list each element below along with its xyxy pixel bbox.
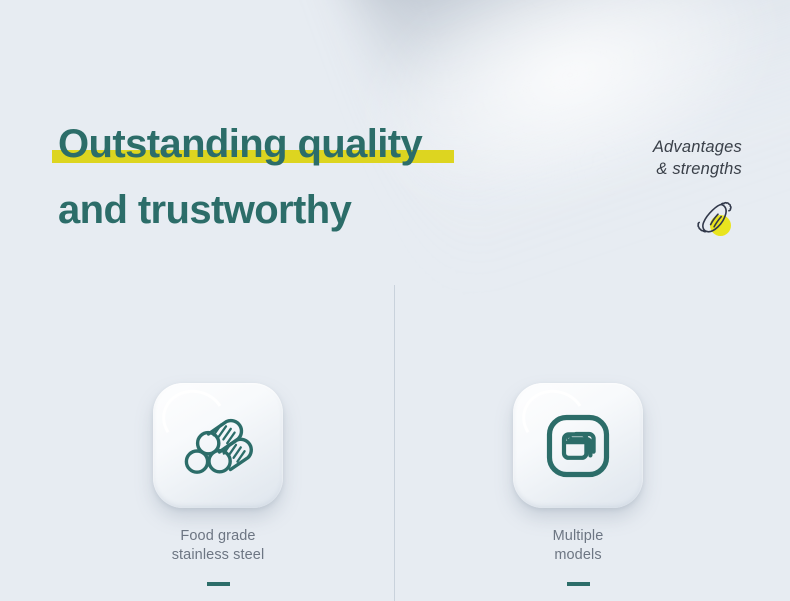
headline-line-2: and trustworthy — [58, 184, 528, 236]
sausage-icon — [690, 194, 742, 244]
feature-caption-line-1: Food grade — [88, 527, 348, 546]
headline-block: Outstanding quality and trustworthy — [58, 118, 528, 236]
feature-icon-tile — [153, 383, 283, 508]
feature-icon-tile — [513, 383, 643, 508]
feature-caption-dash — [567, 582, 590, 586]
headline-line-1: Outstanding quality — [58, 118, 528, 170]
feature-caption: Food grade stainless steel — [88, 527, 348, 565]
headline-line-1-text: Outstanding quality — [58, 122, 422, 166]
feature-item-multiple-models: Multiple models — [448, 383, 708, 586]
feature-caption-line-2: stainless steel — [88, 546, 348, 565]
feature-caption: Multiple models — [448, 527, 708, 565]
slide-canvas: Outstanding quality and trustworthy Adva… — [0, 0, 790, 601]
feature-caption-line-1: Multiple — [448, 527, 708, 546]
stacked-windows-icon — [539, 407, 617, 485]
stacked-tubes-icon — [179, 407, 257, 485]
kicker-block: Advantages & strengths — [653, 136, 742, 180]
kicker-line-1: Advantages — [653, 136, 742, 158]
kicker-line-2: & strengths — [653, 158, 742, 180]
feature-list: Food grade stainless steel — [0, 383, 790, 583]
feature-item-food-grade-stainless-steel: Food grade stainless steel — [88, 383, 348, 586]
feature-caption-dash — [207, 582, 230, 586]
headline-line-2-text: and trustworthy — [58, 188, 351, 232]
feature-caption-line-2: models — [448, 546, 708, 565]
